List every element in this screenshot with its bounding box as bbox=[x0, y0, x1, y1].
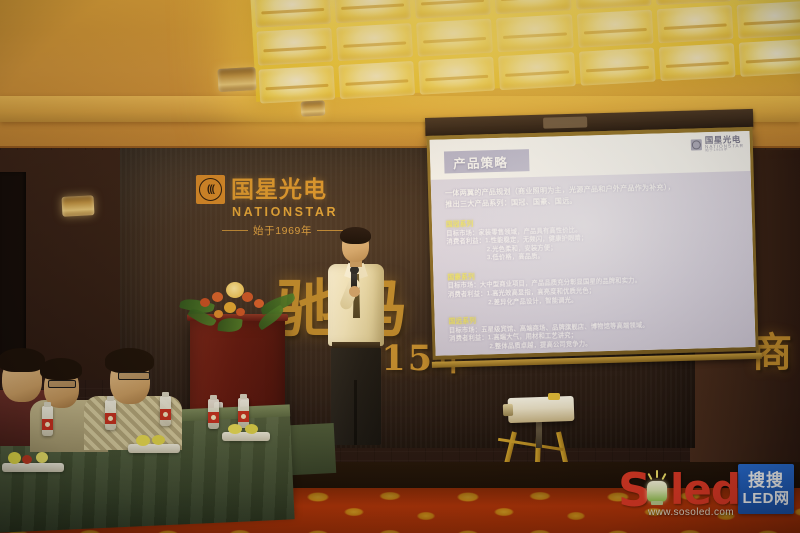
light-panel bbox=[576, 10, 653, 48]
fruit-plate bbox=[222, 432, 270, 441]
watermark-logo-led: led bbox=[670, 469, 740, 511]
light-panel bbox=[494, 0, 571, 14]
watermark: S led www.sosoled.com 搜搜 LED网 bbox=[618, 458, 794, 520]
light-panel bbox=[659, 43, 736, 81]
presenter bbox=[322, 230, 392, 445]
water-bottle bbox=[238, 398, 249, 428]
slide-section: 国豪系列 目标市场：大中型商业项目，产品品质充分彰显国星的品牌和实力。 消费者利… bbox=[447, 263, 744, 309]
led-bulb-icon bbox=[647, 481, 667, 502]
eyeglasses-icon bbox=[48, 380, 76, 388]
light-panel bbox=[254, 0, 331, 28]
light-panel bbox=[734, 0, 800, 1]
slide-title: 产品策略 bbox=[453, 151, 508, 172]
eyeglasses-icon bbox=[118, 372, 150, 380]
fruit-plate bbox=[2, 463, 64, 472]
fruit-item bbox=[228, 424, 242, 434]
projector-knob bbox=[548, 393, 560, 400]
light-panel bbox=[336, 23, 413, 61]
slide-logo-sub: 始于1969年 bbox=[705, 148, 744, 153]
watermark-logo: S led www.sosoled.com bbox=[618, 463, 736, 515]
light-panel bbox=[654, 0, 731, 5]
light-panel bbox=[496, 14, 573, 52]
light-panel bbox=[418, 57, 495, 95]
fruit-item bbox=[36, 452, 48, 463]
watermark-badge: 搜搜 LED网 bbox=[738, 464, 794, 514]
watermark-url: www.sosoled.com bbox=[648, 507, 734, 518]
light-panel bbox=[579, 48, 656, 86]
screen-surface: 国星光电 NATIONSTAR 始于1969年 产品策略 一体两翼的产品规划（商… bbox=[430, 131, 756, 356]
slide-section: 国冠系列 目标市场：家装零售领域，产品具有高性价比。 消费者利益：1.性能稳定，… bbox=[446, 210, 743, 264]
water-bottle bbox=[160, 396, 171, 426]
screen-housing-bracket bbox=[543, 116, 587, 128]
light-panel bbox=[416, 19, 493, 57]
floral-arrangement bbox=[178, 272, 298, 334]
slide-body: 一体两翼的产品规划（商业照明为主，光源产品和户外产品作为补充）， 推出三大产品系… bbox=[431, 171, 756, 356]
light-panel bbox=[499, 52, 576, 90]
water-bottle bbox=[208, 399, 219, 429]
projection-screen: 国星光电 NATIONSTAR 始于1969年 产品策略 一体两翼的产品规划（商… bbox=[425, 109, 760, 373]
light-panel bbox=[574, 0, 651, 10]
slide-title-band: 产品策略 bbox=[444, 149, 530, 173]
presentation-slide: 国星光电 NATIONSTAR 始于1969年 产品策略 一体两翼的产品规划（商… bbox=[430, 131, 756, 356]
presenter-belt bbox=[332, 342, 380, 348]
backdrop-nationstar-logo: ((( 国星光电 NATIONSTAR 始于1969年 bbox=[196, 175, 346, 238]
fruit-item bbox=[8, 452, 21, 464]
light-panel bbox=[338, 61, 415, 99]
slide-section: 国远系列 目标市场：五星级宾馆、高端商场、品牌旗舰店、博物馆等高端领域。 消费者… bbox=[449, 307, 746, 353]
watermark-badge-line2: LED网 bbox=[742, 490, 789, 507]
bulb-ray-icon bbox=[661, 473, 666, 480]
backdrop-since-text: 始于1969年 bbox=[253, 223, 312, 238]
presenter-hair bbox=[340, 227, 371, 244]
fruit-item bbox=[22, 455, 32, 464]
water-bottle bbox=[42, 406, 53, 436]
light-panel bbox=[256, 28, 333, 66]
light-panel bbox=[334, 0, 411, 23]
slide-lead-text: 一体两翼的产品规划（商业照明为主，光源产品和户外产品作为补充）， 推出三大产品系… bbox=[445, 180, 741, 209]
fruit-item bbox=[245, 424, 258, 434]
nationstar-mark-glyph: ((( bbox=[207, 185, 214, 195]
light-panel bbox=[656, 5, 733, 43]
presenter-hand bbox=[349, 286, 360, 297]
slide-logo-mark-icon bbox=[691, 139, 702, 150]
fruit-plate bbox=[128, 444, 180, 453]
water-bottle bbox=[105, 400, 116, 430]
light-panel bbox=[736, 1, 800, 39]
presenter-trousers bbox=[331, 346, 381, 445]
projector-lens-icon bbox=[503, 404, 513, 416]
light-panel bbox=[414, 0, 491, 19]
light-panel bbox=[258, 65, 335, 103]
since-rule-left bbox=[222, 230, 248, 231]
nationstar-mark-icon: ((( bbox=[196, 175, 225, 204]
slide-nationstar-logo: 国星光电 NATIONSTAR 始于1969年 bbox=[691, 135, 744, 153]
backdrop-brand-cn: 国星光电 bbox=[231, 177, 327, 202]
tripod-head bbox=[536, 420, 542, 448]
fruit-item bbox=[136, 435, 150, 446]
recessed-downlight-icon bbox=[61, 195, 94, 217]
watermark-badge-line1: 搜搜 bbox=[748, 472, 784, 490]
light-panel bbox=[739, 39, 800, 77]
recessed-downlight-icon bbox=[217, 67, 256, 92]
projector bbox=[508, 396, 575, 423]
fruit-item bbox=[152, 435, 165, 445]
bulb-ray-icon bbox=[656, 470, 658, 478]
door-frame bbox=[0, 172, 26, 362]
recessed-downlight-icon bbox=[301, 100, 326, 116]
conference-photo-scene: ((( 国星光电 NATIONSTAR 始于1969年 驰马 015年 商 bbox=[0, 0, 800, 533]
backdrop-brand-en: NATIONSTAR bbox=[232, 205, 346, 219]
